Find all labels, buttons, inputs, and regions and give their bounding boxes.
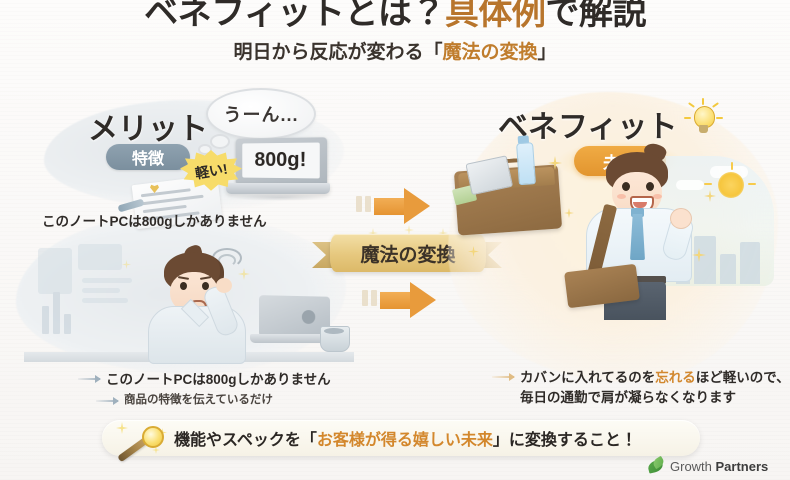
briefcase-illustration (454, 164, 562, 235)
decor-line (82, 278, 132, 283)
motion-line (371, 290, 377, 306)
decor-bar (42, 306, 49, 334)
arrow-head (404, 188, 430, 224)
brand-logo: Growth Partners (648, 458, 768, 475)
arrow-body (380, 292, 414, 309)
right-caption-line1-accent: 忘れる (655, 370, 696, 385)
laptop-weight-text: 800g! (255, 149, 307, 172)
building (740, 242, 760, 284)
right-caption-line1-part1: カバンに入れてるのを (520, 370, 655, 385)
bulb-ray (688, 102, 695, 108)
page-title: ベネフィットとは？具体例で解説 (0, 0, 790, 32)
right-caption-line1-part2: ほど軽いので、 (696, 370, 790, 385)
sun-ray (748, 183, 756, 185)
laptop-screen: 800g! (236, 137, 327, 184)
feature-badge: 特徴 (106, 144, 190, 170)
happy-person-illustration (574, 150, 714, 320)
bulb-ray (702, 98, 704, 105)
brand-logo-text: Growth Partners (670, 459, 768, 474)
laptop-logo-dot (302, 310, 315, 324)
arrow-right-icon-top (374, 188, 432, 224)
motion-line (362, 290, 368, 306)
laptop-shadow (232, 194, 328, 201)
decor-bar (53, 292, 60, 334)
eye-right (646, 182, 654, 191)
left-caption-primary: このノートPCは800gしかありません (78, 370, 331, 390)
bulb-ray (712, 102, 719, 108)
banner-text-accent: お客様が得る嬉しい未来 (317, 432, 493, 449)
laptop-display: 800g! (242, 143, 319, 179)
summary-banner-text: 機能やスペックを「お客様が得る嬉しい未来」に変換すること！ (174, 426, 637, 450)
left-caption-secondary: 商品の特徴を伝えているだけ (96, 392, 273, 409)
left-panel-heading: メリット (88, 104, 208, 148)
arrow-body (374, 198, 408, 215)
right-caption: カバンに入れてるのを忘れるほど軽いので、 毎日の通勤で肩が凝らなくなります (492, 368, 790, 407)
left-caption-secondary-text: 商品の特徴を伝えているだけ (124, 392, 273, 409)
decor-bar (64, 314, 71, 334)
cheek-blush-left (617, 194, 626, 199)
bulb-ray (684, 117, 691, 119)
infographic-stage: ベネフィットとは？具体例で解説 明日から反応が変わる「魔法の変換」 メリット 特… (0, 0, 790, 480)
left-caption-primary-text: このノートPCは800gしかありません (106, 370, 331, 390)
bulb-ray (716, 117, 723, 119)
sun-icon (718, 172, 744, 198)
title-accent: 具体例 (445, 0, 546, 32)
sparkle-icon (564, 208, 574, 218)
leaf-icon (648, 458, 665, 475)
coffee-cup-rim (324, 328, 344, 334)
brand-name-bold: Partners (716, 459, 769, 474)
left-scene-illustration (24, 234, 354, 384)
left-inline-caption: このノートPCは800gしかありません (42, 212, 267, 232)
water-bottle (516, 142, 536, 185)
lightbulb-icon (690, 106, 716, 136)
sparkle-icon (116, 422, 128, 434)
sun-ray (731, 162, 733, 170)
banner-text-part2: 」に変換すること！ (493, 432, 637, 449)
document-line (142, 195, 204, 206)
eye-left (180, 282, 187, 290)
title-part1: ベネフィットとは？ (144, 0, 445, 32)
thought-bubble-text: うーん... (223, 101, 298, 127)
title-block: ベネフィットとは？具体例で解説 明日から反応が変わる「魔法の変換」 (0, 0, 790, 64)
subtitle-part2: 」 (538, 42, 557, 63)
right-caption-text: カバンに入れてるのを忘れるほど軽いので、 毎日の通勤で肩が凝らなくなります (520, 368, 790, 407)
brand-name-light: Growth (670, 459, 716, 474)
decor-card (38, 248, 72, 294)
fist (670, 208, 692, 229)
right-caption-line2: 毎日の通勤で肩が凝らなくなります (520, 390, 736, 405)
bulb-base (699, 125, 708, 133)
title-part2: で解説 (545, 0, 646, 32)
building (720, 254, 736, 284)
summary-banner: 機能やスペックを「お客様が得る嬉しい未来」に変換すること！ (102, 420, 700, 456)
arrow-head (410, 282, 436, 318)
decor-card (78, 244, 122, 270)
eye-left (622, 182, 630, 191)
right-scene-illustration (452, 150, 782, 320)
arrow-right-icon-bottom (380, 282, 438, 318)
laptop-in-bag (465, 155, 513, 195)
motion-line (365, 196, 371, 212)
banner-text-part1: 機能やスペックを「 (174, 432, 317, 449)
decor-line (82, 288, 120, 293)
page-subtitle: 明日から反応が変わる「魔法の変換」 (0, 37, 790, 64)
caption-arrow-icon (96, 400, 118, 402)
cheek-blush-right (653, 194, 662, 199)
subtitle-part1: 明日から反応が変わる「 (233, 42, 442, 63)
sparkle-icon (468, 246, 479, 257)
motion-line (356, 196, 362, 212)
hand (216, 278, 232, 293)
right-caption-line1: カバンに入れてるのを忘れるほど軽いので、 (520, 370, 790, 385)
subtitle-accent: 魔法の変換 (442, 42, 537, 63)
light-weight-burst-badge: 軽い! (180, 150, 242, 192)
caption-arrow-icon (78, 378, 100, 380)
caption-arrow-icon (492, 376, 514, 378)
ribbon-label: 魔法の変換 (360, 240, 455, 267)
magic-wand-icon (112, 424, 168, 474)
decor-line (82, 298, 128, 303)
thought-bubble: うーん... (206, 88, 316, 140)
wand-tip (142, 426, 164, 448)
